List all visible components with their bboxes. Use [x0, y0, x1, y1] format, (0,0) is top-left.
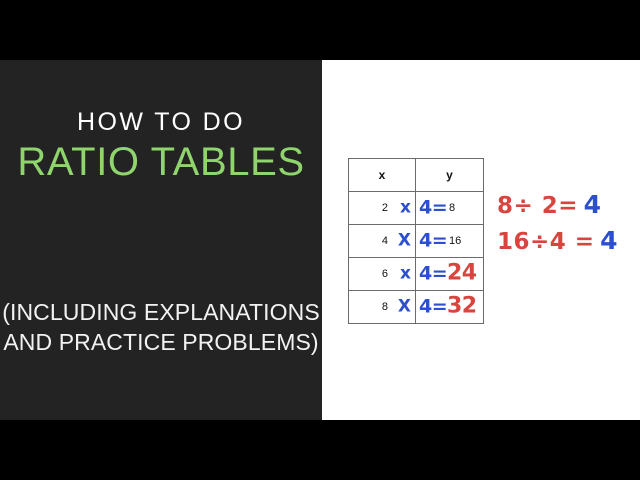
factor-equals-annotation: 4=: [419, 230, 447, 252]
division-expression: 8÷ 2=: [497, 193, 578, 219]
letterbox-bar-bottom: [0, 420, 640, 480]
product-value: 16: [449, 235, 461, 247]
cell-y-value: 4= 32: [416, 291, 484, 324]
division-result: 4: [600, 226, 618, 255]
title-panel: HOW TO DO RATIO TABLES (INCLUDING EXPLAN…: [0, 60, 322, 420]
table-row: 8 X 4= 32: [349, 291, 484, 324]
table-row: 2 x 4= 8: [349, 192, 484, 225]
factor-equals-annotation: 4=: [419, 296, 447, 318]
title-line-how-to-do: HOW TO DO: [0, 108, 322, 136]
cell-x-value: 6 x: [349, 258, 416, 291]
content-band: HOW TO DO RATIO TABLES (INCLUDING EXPLAN…: [0, 60, 640, 420]
product-value-handwritten: 32: [447, 294, 477, 319]
column-header-y: y: [416, 159, 484, 192]
column-header-x: x: [349, 159, 416, 192]
division-expression: 16÷4 =: [497, 229, 595, 255]
division-work-annotation: 8÷ 2= 4 16÷4 = 4: [497, 188, 640, 260]
division-line: 16÷4 = 4: [497, 224, 640, 258]
multiplication-symbol: x: [400, 264, 411, 284]
cell-y-value: 4= 16: [416, 225, 484, 258]
division-result: 4: [584, 190, 602, 219]
cell-y-value: 4= 8: [416, 192, 484, 225]
cell-y-value: 4= 24: [416, 258, 484, 291]
product-value-handwritten: 24: [447, 261, 477, 286]
cell-x-value: 8 X: [349, 291, 416, 324]
x-number: 8: [382, 301, 388, 313]
multiplication-symbol: X: [398, 297, 411, 317]
x-number: 4: [382, 235, 388, 247]
table-row: 4 X 4= 16: [349, 225, 484, 258]
letterbox-bar-top: [0, 0, 640, 60]
cell-x-value: 4 X: [349, 225, 416, 258]
x-number: 2: [382, 202, 388, 214]
ratio-table: x y 2 x 4= 8: [348, 158, 484, 324]
cell-x-value: 2 x: [349, 192, 416, 225]
factor-equals-annotation: 4=: [419, 197, 447, 219]
multiplication-symbol: x: [400, 198, 411, 218]
subtitle-line-1: (INCLUDING EXPLANATIONS: [0, 297, 322, 327]
subtitle-line-2: AND PRACTICE PROBLEMS): [0, 327, 322, 357]
title-block: HOW TO DO RATIO TABLES: [0, 108, 322, 186]
whiteboard-area: x y 2 x 4= 8: [322, 60, 640, 420]
table-row: 6 x 4= 24: [349, 258, 484, 291]
title-line-ratio-tables: RATIO TABLES: [0, 139, 322, 186]
table-header-row: x y: [349, 159, 484, 192]
x-number: 6: [382, 268, 388, 280]
subtitle-block: (INCLUDING EXPLANATIONS AND PRACTICE PRO…: [0, 297, 322, 358]
factor-equals-annotation: 4=: [419, 263, 447, 285]
video-frame: HOW TO DO RATIO TABLES (INCLUDING EXPLAN…: [0, 0, 640, 480]
multiplication-symbol: X: [398, 231, 411, 251]
product-value: 8: [449, 202, 455, 214]
division-line: 8÷ 2= 4: [497, 188, 640, 222]
